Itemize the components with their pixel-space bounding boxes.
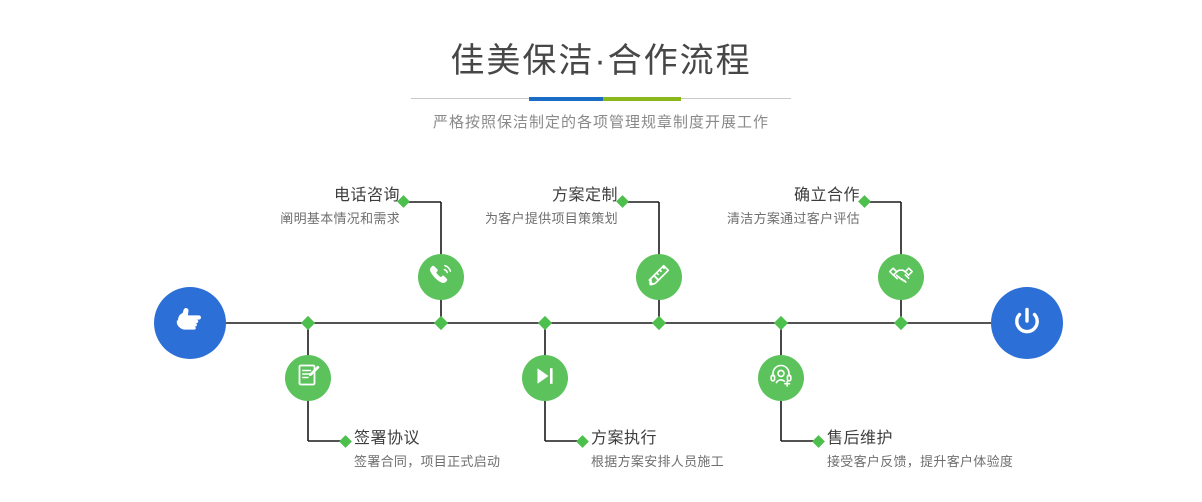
support-agent-icon [768, 362, 795, 394]
step-icon-phone-consult[interactable] [418, 254, 464, 300]
step-label-after-sales: 售后维护 接受客户反馈，提升客户体验度 [827, 428, 1177, 472]
step-icon-plan-customize[interactable] [636, 254, 682, 300]
step-desc: 接受客户反馈，提升客户体验度 [827, 452, 1177, 472]
step-icon-sign-agreement[interactable] [285, 355, 331, 401]
play-next-icon [532, 363, 558, 394]
step-icon-plan-execute[interactable] [522, 355, 568, 401]
step-icon-after-sales[interactable] [758, 355, 804, 401]
phone-call-icon [427, 261, 455, 294]
power-icon [1007, 301, 1047, 346]
step-icon-confirm-cooperation[interactable] [878, 254, 924, 300]
flow-start-endpoint[interactable] [154, 287, 226, 359]
pencil-ruler-icon [645, 261, 673, 294]
step-desc: 清洁方案通过客户评估 [572, 209, 860, 229]
step-label-confirm-cooperation: 确立合作 清洁方案通过客户评估 [572, 185, 860, 229]
process-flow-diagram: 电话咨询 阐明基本情况和需求 签署协议 签署合同，项目正式启动 [0, 0, 1202, 502]
handshake-icon [887, 261, 915, 294]
step-title: 售后维护 [827, 428, 1177, 450]
step-title: 确立合作 [572, 185, 860, 207]
flow-connectors [0, 0, 1202, 502]
flow-end-endpoint[interactable] [991, 287, 1063, 359]
label-node-diamonds [339, 195, 871, 448]
document-edit-icon [295, 362, 322, 394]
pointing-hand-icon [170, 301, 210, 346]
